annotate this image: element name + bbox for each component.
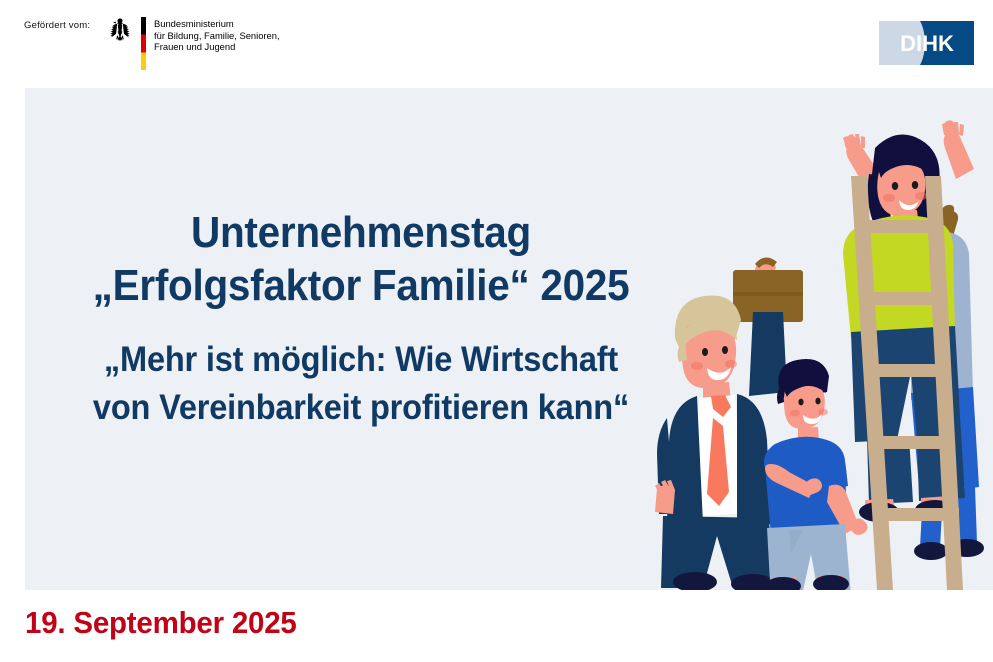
dihk-logo: DIHK [879,21,974,65]
title-line-1: Unternehmenstag [52,206,670,259]
german-flag-bar [141,17,146,70]
ministry-line-3: Frauen und Jugend [154,41,280,53]
subtitle-line-2: von Vereinbarkeit profitieren kann“ [49,384,674,432]
event-date: 19. September 2025 [25,605,297,641]
funded-by-label: Gefördert vom: [24,20,90,31]
ministry-line-2: für Bildung, Familie, Senioren, [154,30,280,42]
title-line-2: „Erfolgsfaktor Familie“ 2025 [52,259,670,312]
ministry-line-1: Bundesministerium [154,18,280,30]
subtitle-line-1: „Mehr ist möglich: Wie Wirtschaft [49,336,674,384]
dihk-wordmark: DIHK [900,31,954,56]
event-title: Unternehmenstag „Erfolgsfaktor Familie“ … [25,206,697,312]
ministry-name: Bundesministerium für Bildung, Familie, … [154,17,280,53]
funding-header: Gefördert vom: Bun [0,0,993,88]
boy-in-blue-shirt-figure [764,359,868,590]
german-federal-eagle-icon [106,17,134,47]
bmfsfj-ministry-logo: Bundesministerium für Bildung, Familie, … [106,17,280,70]
people-climbing-ladder-illustration [653,88,993,590]
hero-panel: Unternehmenstag „Erfolgsfaktor Familie“ … [25,88,993,590]
event-subtitle: „Mehr ist möglich: Wie Wirtschaft von Ve… [25,336,697,432]
